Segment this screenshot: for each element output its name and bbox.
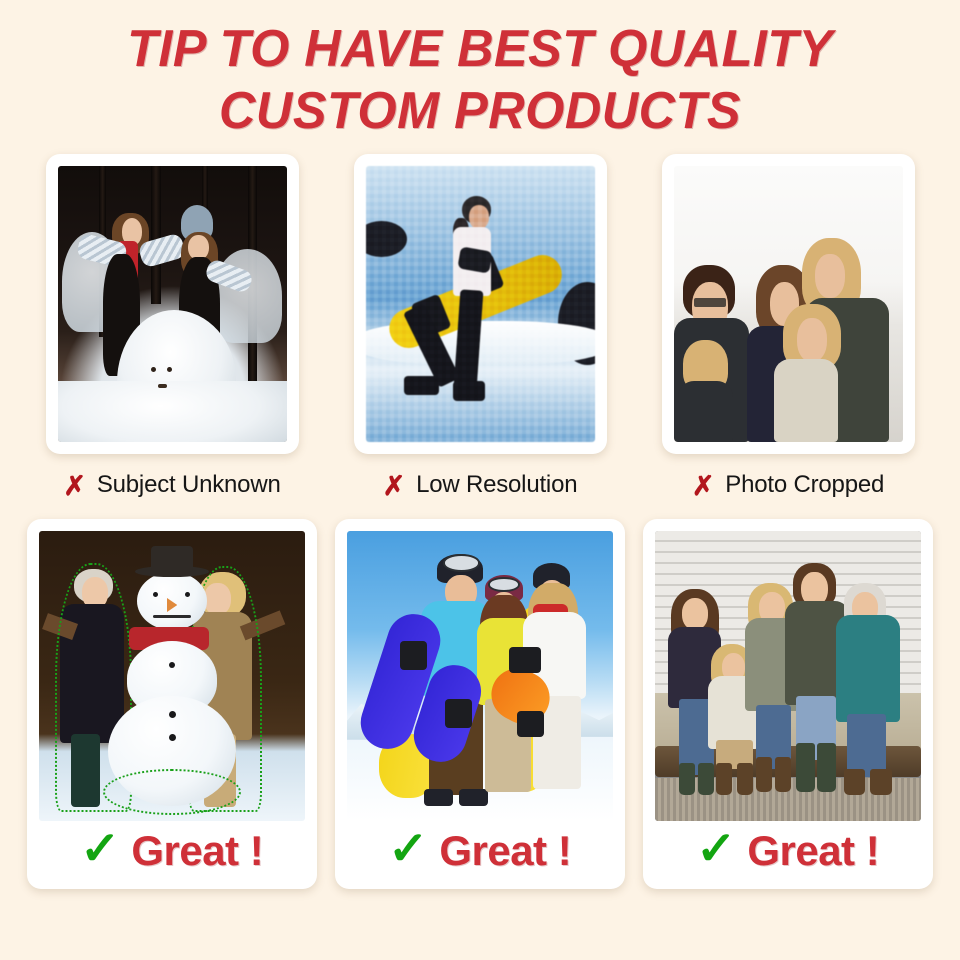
photo-card-photo-cropped[interactable]: [662, 154, 915, 454]
x-mark-icon: ✗: [383, 473, 405, 500]
good-label-2: ✓ Great !: [347, 821, 613, 883]
bad-examples-row: ✗ Subject Unknown: [0, 154, 960, 499]
bad-label-text: Subject Unknown: [97, 471, 281, 499]
x-mark-icon: ✗: [63, 473, 85, 500]
bad-example-cell-1: ✗ Subject Unknown: [18, 154, 326, 499]
bad-label-subject-unknown: ✗ Subject Unknown: [63, 471, 280, 499]
photo-family-by-barn: [655, 531, 921, 821]
great-text: Great !: [131, 827, 263, 875]
bad-label-photo-cropped: ✗ Photo Cropped: [692, 471, 884, 499]
good-label-1: ✓ Great !: [39, 821, 305, 883]
bad-label-text: Photo Cropped: [725, 471, 884, 499]
photo-pixelated-snowboarder: [366, 166, 595, 442]
photo-card-great-snowboarders[interactable]: ✓ Great !: [335, 519, 625, 889]
photo-card-low-resolution[interactable]: [354, 154, 607, 454]
x-mark-icon: ✗: [692, 473, 714, 500]
bad-label-text: Low Resolution: [416, 471, 577, 499]
good-example-cell-1: ✓ Great !: [18, 519, 326, 889]
check-mark-icon: ✓: [388, 825, 428, 871]
good-example-cell-3: ✓ Great !: [634, 519, 942, 889]
good-example-cell-2: ✓ Great !: [326, 519, 634, 889]
bad-example-cell-3: ✗ Photo Cropped: [634, 154, 942, 499]
good-label-3: ✓ Great !: [655, 821, 921, 883]
great-text: Great !: [439, 827, 571, 875]
photo-three-snowboarders: [347, 531, 613, 821]
photo-card-subject-unknown[interactable]: [46, 154, 299, 454]
check-mark-icon: ✓: [696, 825, 736, 871]
bad-example-cell-2: ✗ Low Resolution: [326, 154, 634, 499]
check-mark-icon: ✓: [80, 825, 120, 871]
page-title: TIP TO HAVE BEST QUALITY CUSTOM PRODUCTS: [0, 0, 960, 148]
photo-family-cropped: [674, 166, 903, 442]
title-line-2: CUSTOM PRODUCTS: [53, 80, 907, 142]
photo-card-great-family[interactable]: ✓ Great !: [643, 519, 933, 889]
bad-label-low-resolution: ✗ Low Resolution: [383, 471, 578, 499]
good-examples-row: ✓ Great !: [0, 519, 960, 889]
great-text: Great !: [747, 827, 879, 875]
photo-women-with-snowman: [39, 531, 305, 821]
title-line-1: TIP TO HAVE BEST QUALITY: [53, 18, 907, 80]
photo-two-girls-snow-pile: [58, 166, 287, 442]
photo-card-great-snowman[interactable]: ✓ Great !: [27, 519, 317, 889]
